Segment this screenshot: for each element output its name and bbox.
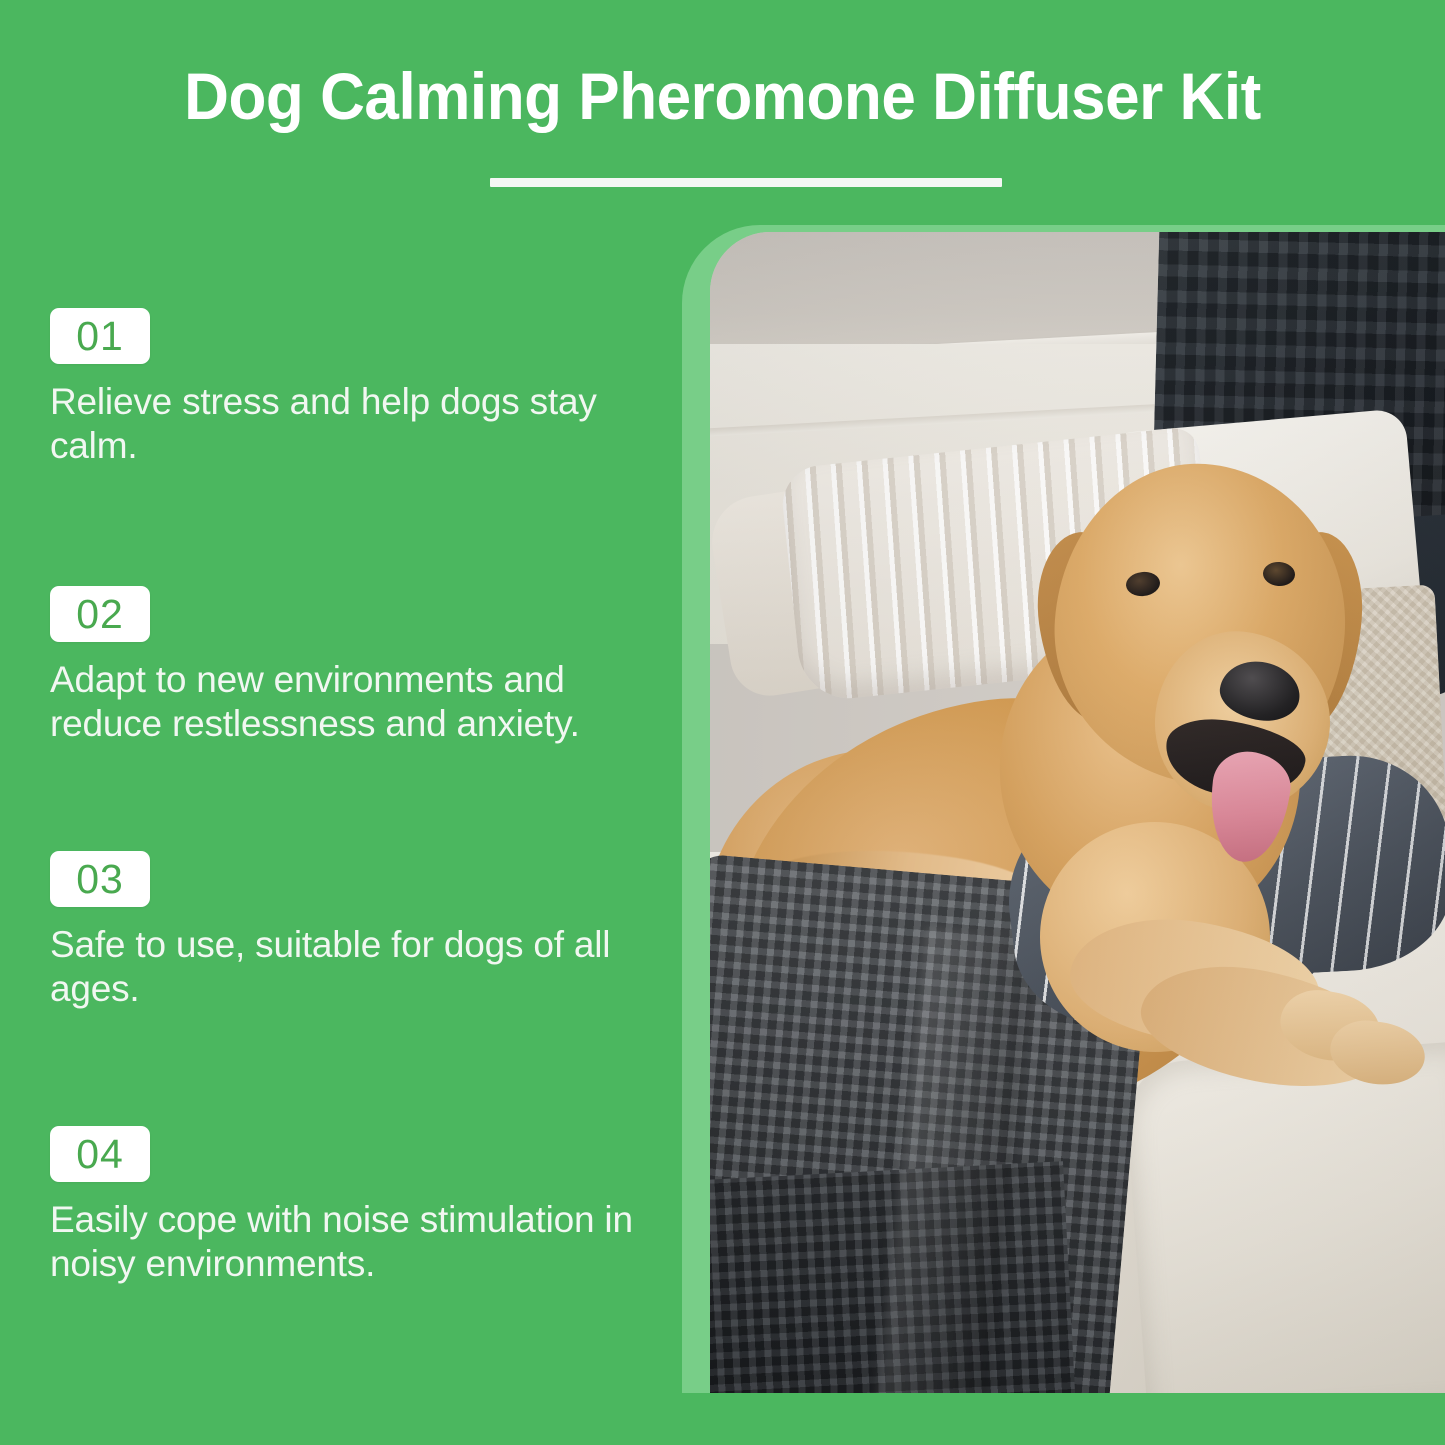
feature-number-badge: 01: [50, 308, 150, 364]
badge-number-label: 01: [76, 316, 124, 357]
list-item: 03 Safe to use, suitable for dogs of all…: [50, 851, 670, 1010]
feature-number-badge: 02: [50, 586, 150, 642]
feature-description: Easily cope with noise stimulation in no…: [50, 1198, 675, 1285]
list-item: 01 Relieve stress and help dogs stay cal…: [50, 308, 670, 467]
list-item: 04 Easily cope with noise stimulation in…: [50, 1126, 670, 1285]
page-title: Dog Calming Pheromone Diffuser Kit: [43, 62, 1401, 132]
product-infographic-poster: Dog Calming Pheromone Diffuser Kit 01 Re…: [0, 0, 1445, 1445]
feature-description: Relieve stress and help dogs stay calm.: [50, 380, 675, 467]
poster-header: Dog Calming Pheromone Diffuser Kit: [0, 0, 1445, 215]
badge-number-label: 04: [76, 1134, 124, 1175]
badge-number-label: 02: [76, 594, 124, 635]
list-item: 02 Adapt to new environments and reduce …: [50, 586, 670, 745]
feature-description: Safe to use, suitable for dogs of all ag…: [50, 923, 675, 1010]
product-lifestyle-photo: [710, 232, 1445, 1393]
feature-number-badge: 04: [50, 1126, 150, 1182]
feature-description: Adapt to new environments and reduce res…: [50, 658, 675, 745]
feature-number-badge: 03: [50, 851, 150, 907]
badge-number-label: 03: [76, 859, 124, 900]
photo-ottoman-cushion: [1123, 1042, 1445, 1393]
title-underline-rule: [490, 178, 1002, 187]
